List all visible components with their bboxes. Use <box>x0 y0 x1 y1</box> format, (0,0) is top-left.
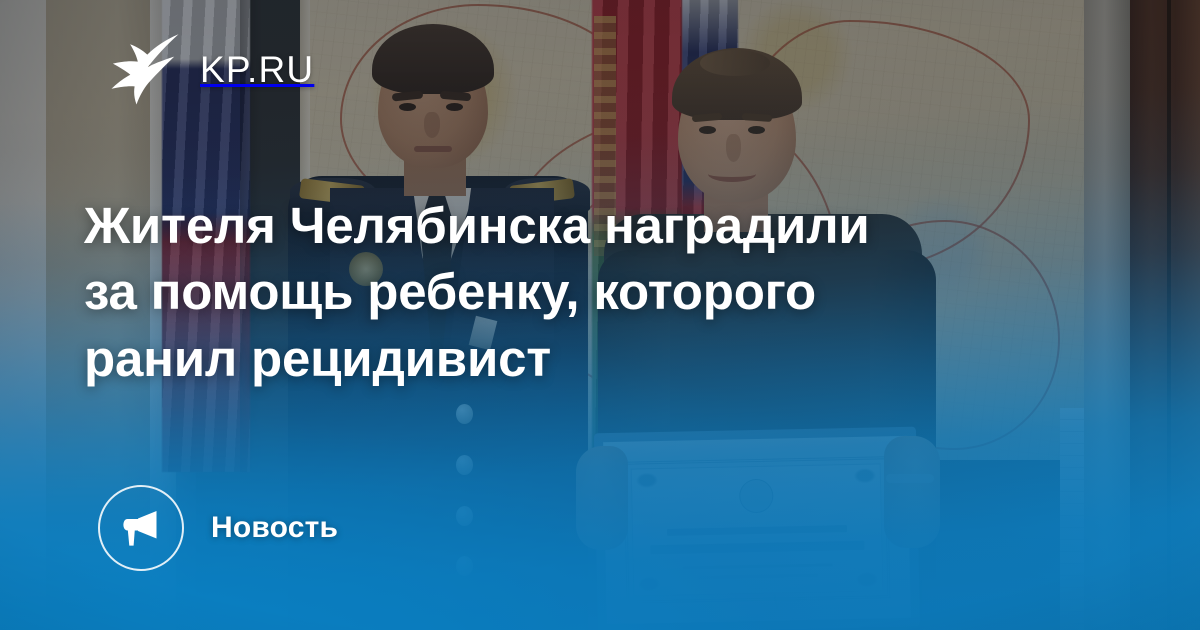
megaphone-icon-circle <box>98 485 184 571</box>
category-label: Новость <box>211 511 338 545</box>
megaphone-icon <box>120 507 162 549</box>
swallow-bird-icon <box>106 33 180 105</box>
category-badge[interactable]: Новость <box>98 485 338 571</box>
page-title: Жителя Челябинска наградили за помощь ре… <box>84 193 1024 392</box>
headline-line-2: за помощь ребенку, которого <box>84 259 1024 325</box>
kp-ru-logo-link[interactable]: KP.RU <box>106 33 314 105</box>
headline-line-3: ранил рецидивист <box>84 326 1024 392</box>
social-share-card: KP.RU Жителя Челябинска наградили за пом… <box>0 0 1200 630</box>
headline-line-1: Жителя Челябинска наградили <box>84 193 1024 259</box>
brand-name: KP.RU <box>200 51 314 88</box>
